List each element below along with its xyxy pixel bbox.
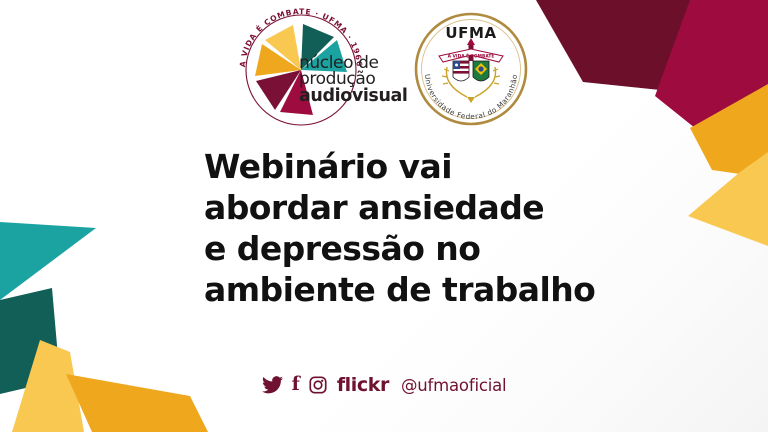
nucleo-producao-audiovisual-logo: A VIDA É COMBATE · UFMA · 1966 núcleo de…	[239, 8, 399, 132]
wedge-left-teal	[0, 222, 96, 300]
facebook-icon[interactable]: f	[292, 375, 300, 394]
social-handle[interactable]: @ufmaoficial	[401, 376, 506, 395]
headline: Webinário vai abordar ansiedade e depres…	[204, 146, 674, 310]
headline-line-4: ambiente de trabalho	[204, 269, 674, 310]
twitter-bird-icon[interactable]	[262, 375, 283, 395]
logo-row: A VIDA É COMBATE · UFMA · 1966 núcleo de…	[0, 8, 768, 138]
headline-line-2: abordar ansiedade	[204, 187, 674, 228]
ufma-seal-logo: UFMA A VIDA É COMBATE	[413, 11, 529, 127]
wedge-right-light-yellow	[688, 152, 768, 246]
slide-canvas: A VIDA É COMBATE · UFMA · 1966 núcleo de…	[0, 0, 768, 432]
headline-line-3: e depressão no	[204, 228, 674, 269]
headline-line-1: Webinário vai	[204, 146, 674, 187]
npa-wordmark-line3: audiovisual	[299, 88, 408, 104]
flickr-wordmark[interactable]: flickr	[337, 374, 389, 396]
instagram-camera-icon[interactable]	[309, 375, 327, 395]
npa-wordmark: núcleo de produção audiovisual	[299, 56, 408, 104]
social-bar: f flickr @ufmaoficial	[0, 374, 768, 396]
